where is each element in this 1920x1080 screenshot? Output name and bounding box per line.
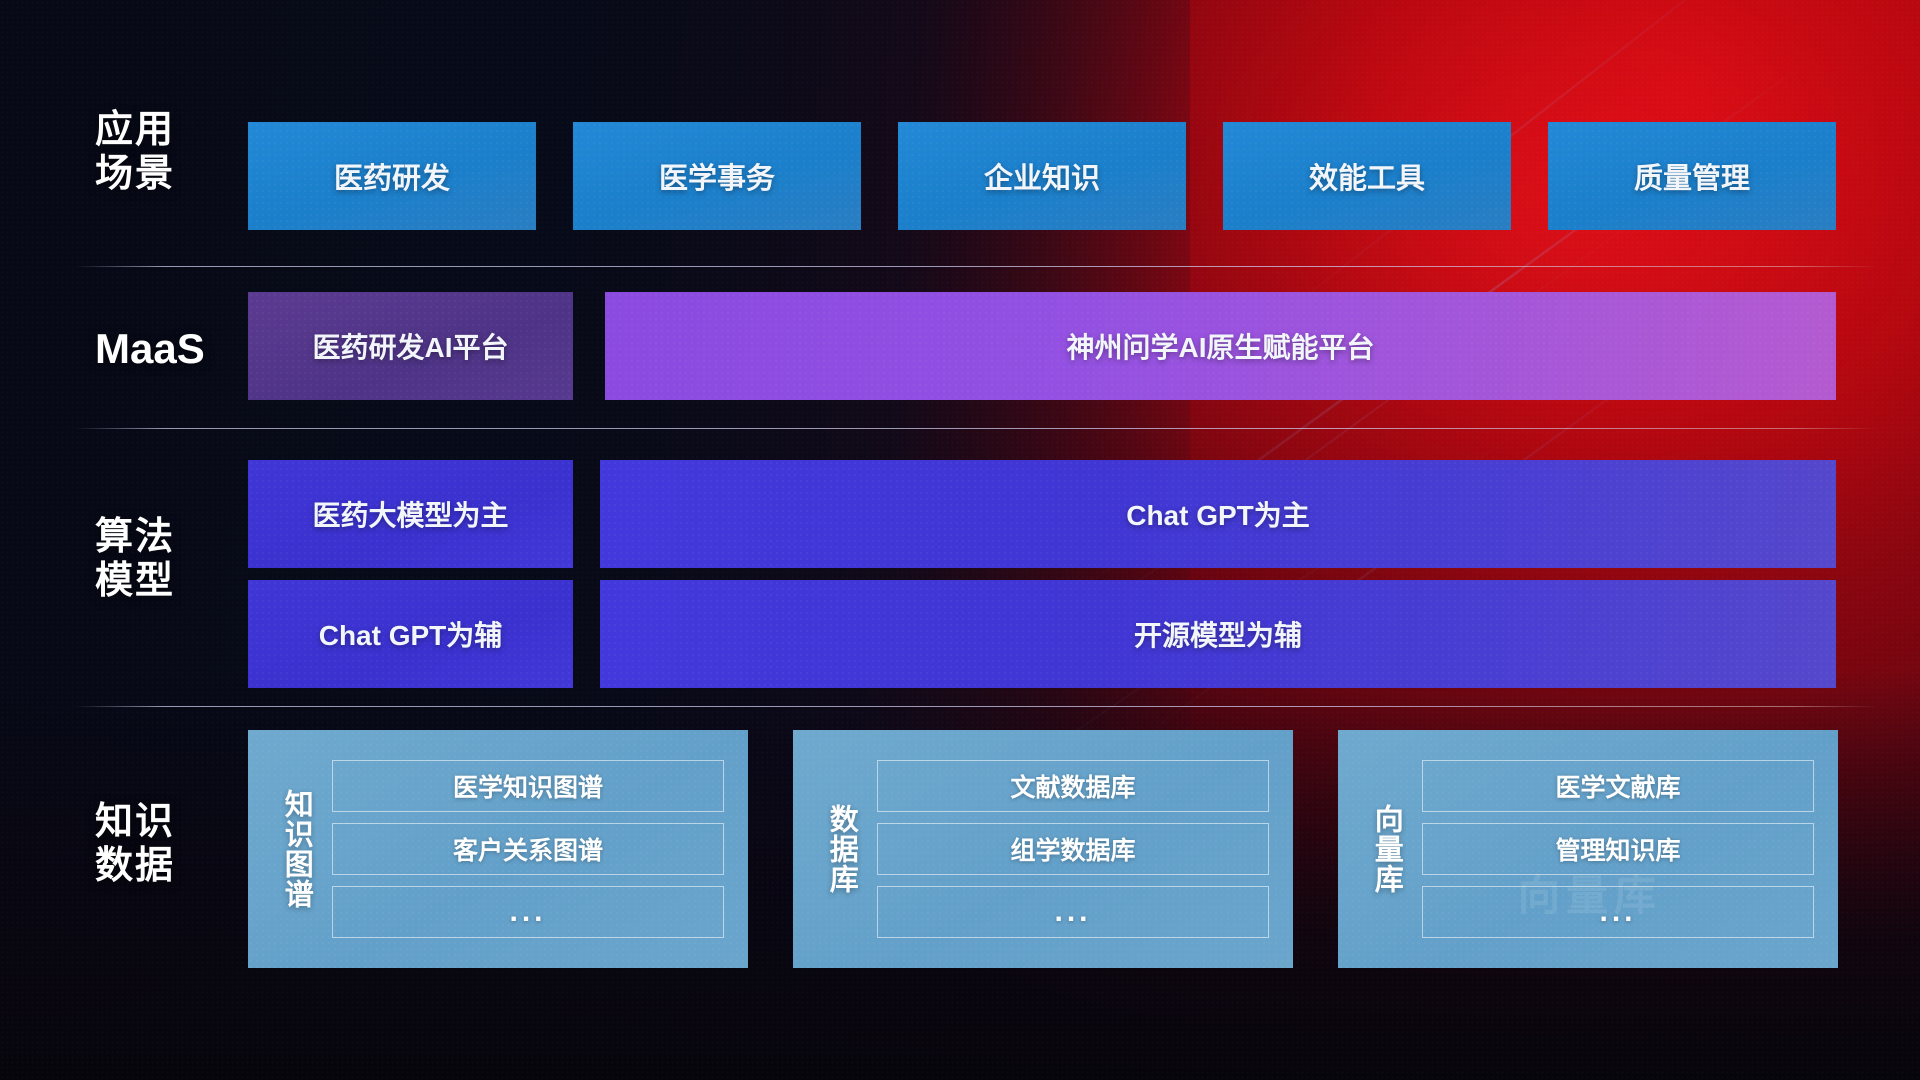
app-tile-0[interactable]: 医药研发	[248, 122, 536, 230]
knowledge-group-2-title: 向量库	[1338, 730, 1412, 968]
maas-right-label: 神州问学AI原生赋能平台	[1066, 326, 1374, 366]
row-label-algorithm: 算法 模型	[95, 515, 245, 603]
knowledge-group-1[interactable]: 数据库 文献数据库 组学数据库 ...	[793, 730, 1293, 968]
maas-right-box[interactable]: 神州问学AI原生赋能平台	[605, 292, 1836, 400]
knowledge-group-1-items: 文献数据库 组学数据库 ...	[867, 730, 1293, 968]
app-tile-label: 企业知识	[984, 155, 1100, 197]
row-label-application: 应用 场景	[95, 108, 245, 196]
knowledge-group-0[interactable]: 知识图谱 医学知识图谱 客户关系图谱 ...	[248, 730, 748, 968]
algorithm-label: Chat GPT为主	[1126, 494, 1310, 534]
knowledge-item-more[interactable]: ...	[1422, 886, 1814, 938]
algorithm-label: 开源模型为辅	[1134, 614, 1302, 654]
knowledge-group-2[interactable]: 向量库 向量库 医学文献库 管理知识库 ...	[1338, 730, 1838, 968]
knowledge-item[interactable]: 医学知识图谱	[332, 760, 724, 812]
divider-2	[75, 428, 1878, 429]
algorithm-row-1-right[interactable]: 开源模型为辅	[600, 580, 1836, 688]
app-tile-1[interactable]: 医学事务	[573, 122, 861, 230]
algorithm-row-0-right[interactable]: Chat GPT为主	[600, 460, 1836, 568]
divider-3	[75, 706, 1878, 707]
row-label-application-line2: 场景	[95, 152, 245, 196]
app-tile-label: 效能工具	[1309, 155, 1425, 197]
app-tile-3[interactable]: 效能工具	[1223, 122, 1511, 230]
algorithm-row-1-left[interactable]: Chat GPT为辅	[248, 580, 573, 688]
algorithm-label: 医药大模型为主	[312, 494, 508, 534]
knowledge-item[interactable]: 组学数据库	[877, 823, 1269, 875]
app-tile-label: 质量管理	[1634, 155, 1750, 197]
knowledge-group-1-title: 数据库	[793, 730, 867, 968]
knowledge-group-0-title: 知识图谱	[248, 730, 322, 968]
knowledge-item[interactable]: 医学文献库	[1422, 760, 1814, 812]
row-label-maas: MaaS	[95, 325, 245, 374]
app-tile-4[interactable]: 质量管理	[1548, 122, 1836, 230]
app-tile-2[interactable]: 企业知识	[898, 122, 1186, 230]
row-label-knowledge: 知识 数据	[95, 800, 245, 888]
maas-left-label: 医药研发AI平台	[312, 326, 508, 366]
row-label-algorithm-line2: 模型	[95, 559, 245, 603]
algorithm-row-0-left[interactable]: 医药大模型为主	[248, 460, 573, 568]
knowledge-item-more[interactable]: ...	[332, 886, 724, 938]
knowledge-item[interactable]: 文献数据库	[877, 760, 1269, 812]
knowledge-group-2-items: 医学文献库 管理知识库 ...	[1412, 730, 1838, 968]
algorithm-label: Chat GPT为辅	[319, 614, 503, 654]
app-tile-label: 医药研发	[334, 155, 450, 197]
row-label-maas-text: MaaS	[95, 325, 245, 374]
row-label-knowledge-line2: 数据	[95, 844, 245, 888]
knowledge-item[interactable]: 客户关系图谱	[332, 823, 724, 875]
maas-left-box[interactable]: 医药研发AI平台	[248, 292, 573, 400]
divider-1	[75, 266, 1878, 267]
app-tile-label: 医学事务	[659, 155, 775, 197]
row-label-knowledge-line1: 知识	[95, 800, 245, 844]
knowledge-item-more[interactable]: ...	[877, 886, 1269, 938]
row-label-application-line1: 应用	[95, 108, 245, 152]
knowledge-item[interactable]: 管理知识库	[1422, 823, 1814, 875]
knowledge-group-0-items: 医学知识图谱 客户关系图谱 ...	[322, 730, 748, 968]
row-label-algorithm-line1: 算法	[95, 515, 245, 559]
